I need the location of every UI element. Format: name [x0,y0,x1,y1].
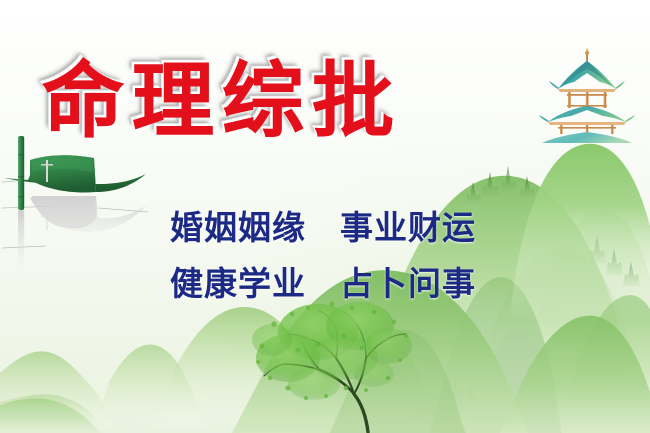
boat-mast [18,136,24,210]
page-title: 命理综批 [42,52,442,152]
pagoda-roof-middle [548,106,626,122]
pagoda-roof-bottom [542,132,632,143]
poster-canvas: 命理综批 婚姻姻缘 事业财运 健康学业 占卜问事 [0,0,650,433]
tree-illustration [248,296,418,433]
title-block: 命理综批 [42,52,442,152]
boat-illustration [2,136,148,266]
tree-foliage [252,302,412,400]
pagoda-illustration [538,48,638,143]
pagoda-finial [585,49,589,63]
subtitle-block: 婚姻姻缘 事业财运 健康学业 占卜问事 [170,208,500,304]
pagoda-columns-upper [567,92,607,108]
boat-mast-reflection [18,210,24,266]
subtitle-line-1: 婚姻姻缘 事业财运 [170,208,500,248]
subtitle-line-2: 健康学业 占卜问事 [170,264,500,304]
